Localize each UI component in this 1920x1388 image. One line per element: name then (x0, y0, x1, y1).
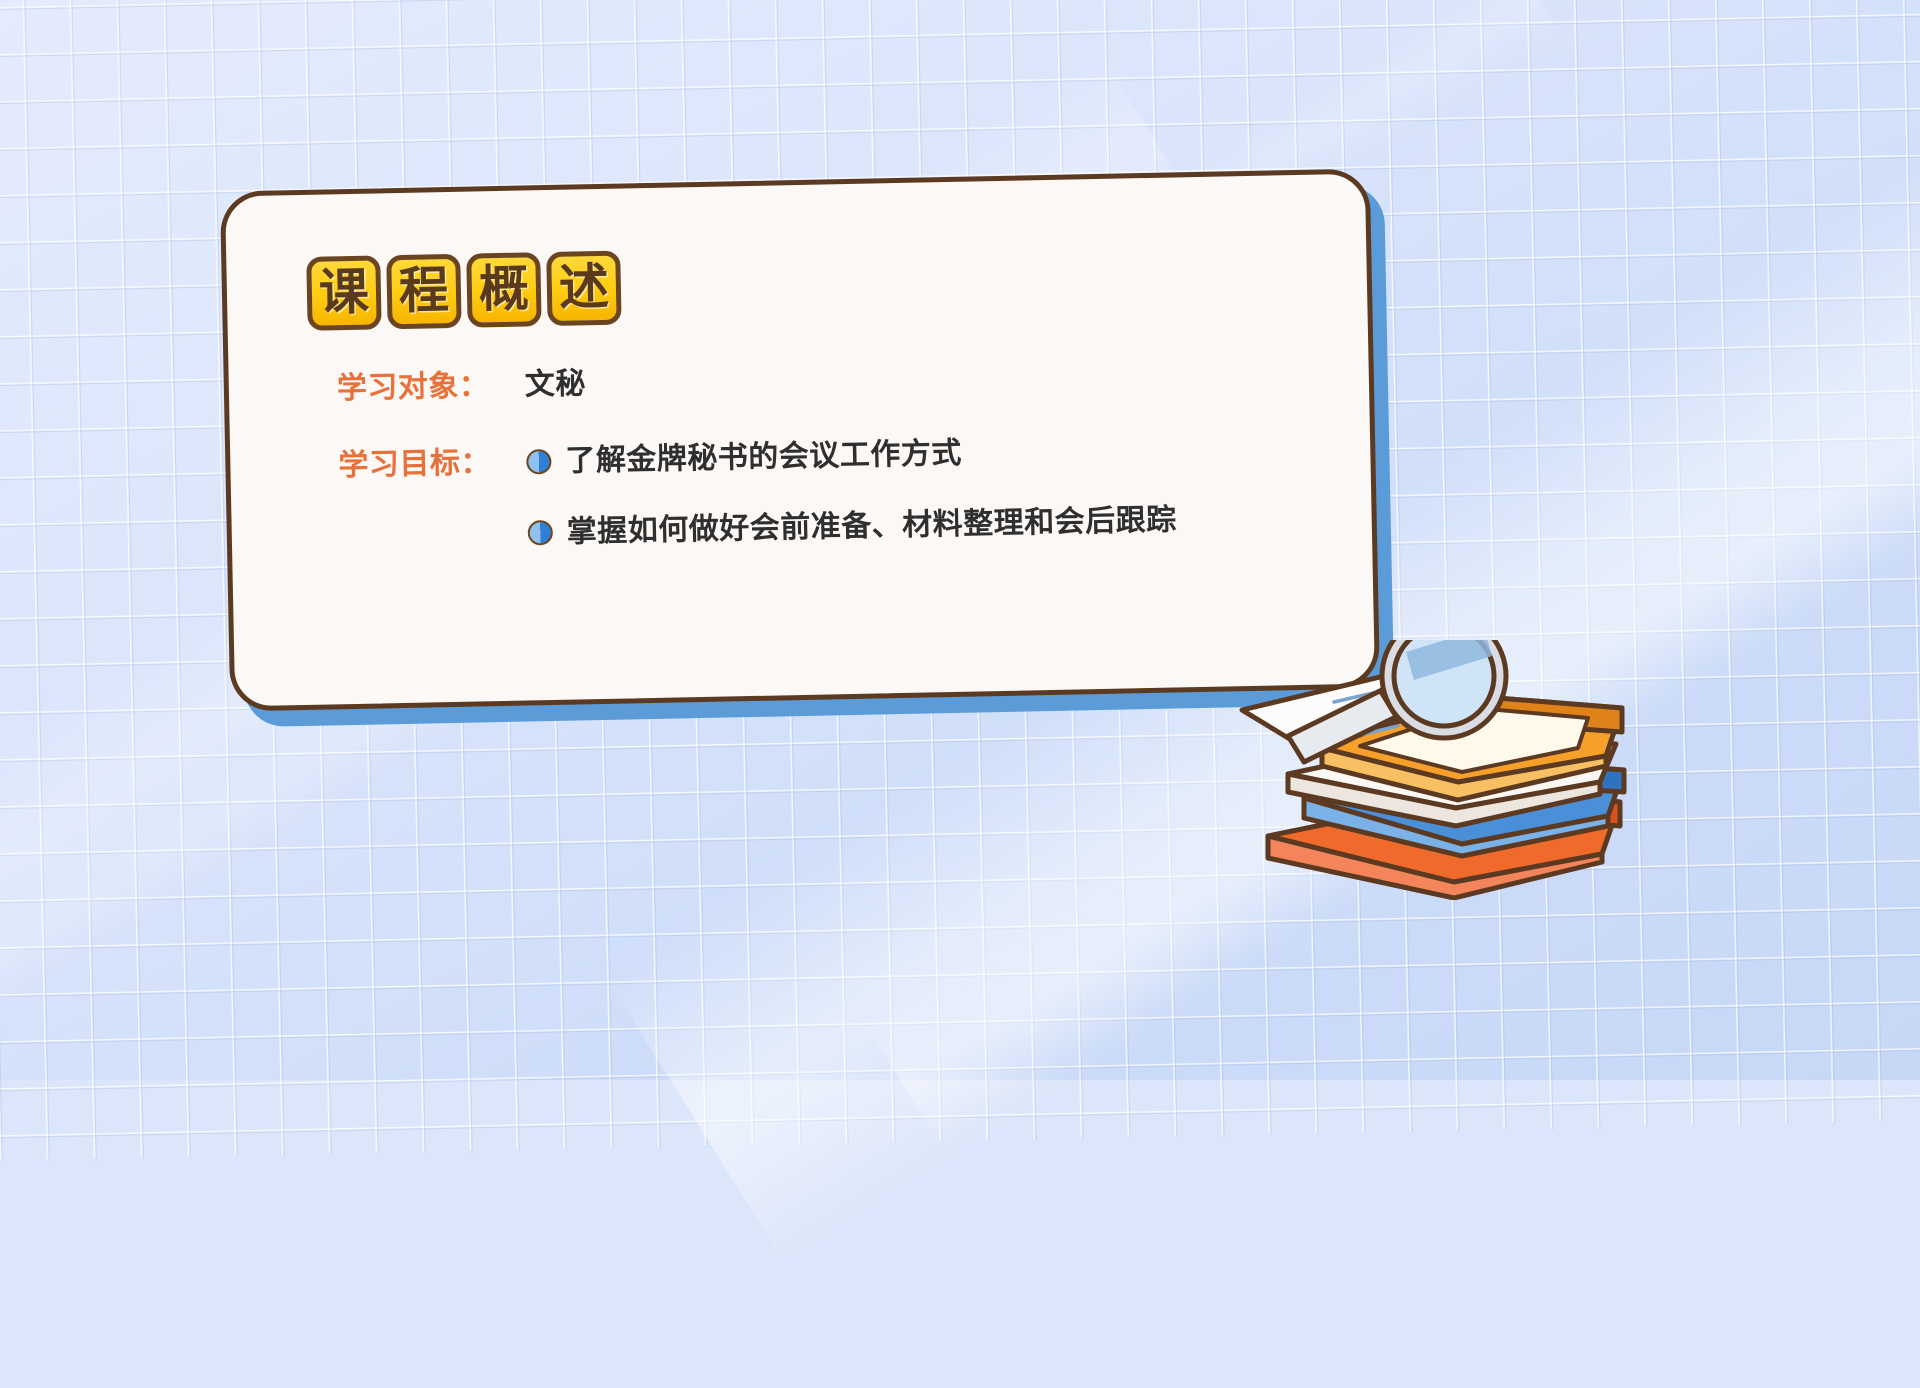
title-badge-3: 概 (466, 252, 541, 327)
objectives-list: 了解金牌秘书的会议工作方式 掌握如何做好会前准备、材料整理和会后跟踪 (526, 429, 1177, 552)
magnifier-lens (1382, 640, 1506, 738)
half-circle-bullet-icon (528, 519, 553, 544)
title-char-3: 概 (478, 263, 529, 314)
title-char-2: 程 (398, 265, 449, 316)
objectives-row: 学习目标： 了解金牌秘书的会议工作方式 掌握如何做好会前准备、材料整理和会后跟踪 (338, 426, 1350, 556)
content-card-wrapper: 课 程 概 述 学习对象： 文秘 学习目标： 了解金牌秘书的会议工作方式 (220, 169, 1380, 712)
audience-row: 学习对象： 文秘 (336, 349, 1347, 410)
objectives-label: 学习目标： (338, 442, 527, 486)
title-badge-4: 述 (546, 251, 621, 326)
books-magnifier-illustration (1230, 640, 1660, 900)
audience-value: 文秘 (524, 364, 586, 406)
list-item: 掌握如何做好会前准备、材料整理和会后跟踪 (527, 500, 1177, 552)
title-badge-2: 程 (386, 254, 461, 329)
info-block: 学习对象： 文秘 学习目标： 了解金牌秘书的会议工作方式 掌握如何做好会前准备、… (336, 349, 1350, 556)
title-char-1: 课 (318, 267, 369, 318)
content-card: 课 程 概 述 学习对象： 文秘 学习目标： 了解金牌秘书的会议工作方式 (220, 169, 1380, 712)
audience-label: 学习对象： (336, 366, 525, 410)
page-title: 课 程 概 述 (306, 251, 621, 331)
objective-text-2: 掌握如何做好会前准备、材料整理和会后跟踪 (566, 500, 1177, 551)
title-badge-1: 课 (306, 255, 381, 330)
half-circle-bullet-icon (526, 448, 551, 473)
objective-text-1: 了解金牌秘书的会议工作方式 (565, 433, 962, 480)
title-char-4: 述 (558, 262, 609, 313)
list-item: 了解金牌秘书的会议工作方式 (526, 429, 1176, 481)
